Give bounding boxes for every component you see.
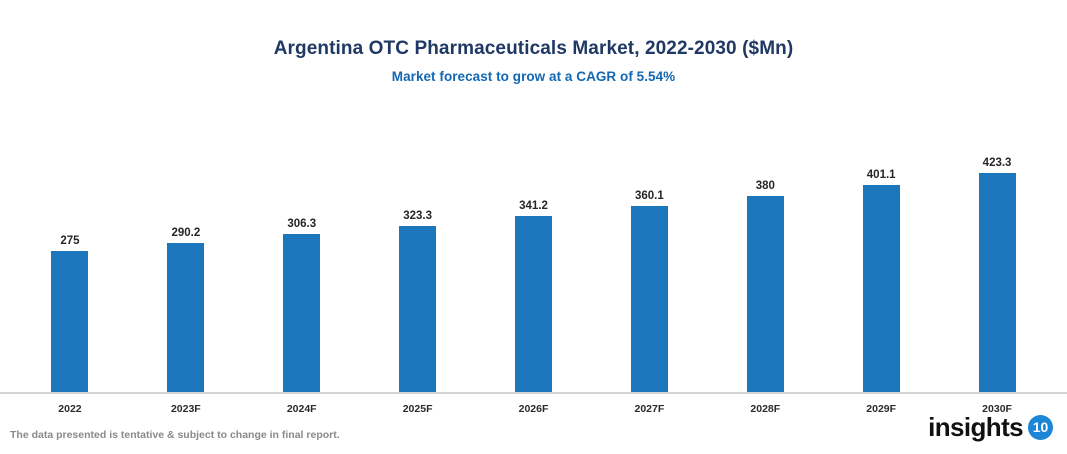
bar-value-label: 423.3	[983, 157, 1012, 169]
bar-value-label: 341.2	[519, 200, 548, 212]
bar-value-label: 290.2	[171, 227, 200, 239]
bar-slot: 380	[707, 102, 823, 394]
bar-value-label: 380	[756, 180, 775, 192]
bar[interactable]	[515, 216, 552, 394]
bar[interactable]	[979, 173, 1016, 393]
chart-container: Argentina OTC Pharmaceuticals Market, 20…	[0, 0, 1067, 454]
bar-slot: 275	[12, 102, 128, 394]
bar-slot: 360.1	[591, 102, 707, 394]
bar-value-label: 275	[60, 235, 79, 247]
bar-slot: 423.3	[939, 102, 1055, 394]
bar-value-label: 401.1	[867, 169, 896, 181]
bar[interactable]	[167, 243, 204, 394]
chart-subtitle: Market forecast to grow at a CAGR of 5.5…	[0, 69, 1067, 84]
bar-slot: 401.1	[823, 102, 939, 394]
bar-value-label: 360.1	[635, 190, 664, 202]
bar-slot: 306.3	[244, 102, 360, 394]
bar-slot: 290.2	[128, 102, 244, 394]
plot-area: 275 290.2 306.3 323.3 341.2 360.1	[12, 102, 1055, 394]
disclaimer-text: The data presented is tentative & subjec…	[10, 429, 340, 441]
bar-value-label: 323.3	[403, 210, 432, 222]
logo-wordmark: insights	[928, 414, 1023, 440]
x-axis-line	[0, 392, 1067, 394]
bar[interactable]	[863, 185, 900, 394]
bar-slot: 341.2	[476, 102, 592, 394]
insights10-logo: insights 10	[928, 414, 1053, 440]
bar[interactable]	[399, 226, 436, 394]
bar-series: 275 290.2 306.3 323.3 341.2 360.1	[12, 102, 1055, 394]
bar[interactable]	[283, 234, 320, 393]
bar-value-label: 306.3	[287, 218, 316, 230]
bar-slot: 323.3	[360, 102, 476, 394]
bar[interactable]	[631, 206, 668, 393]
chart-footer: The data presented is tentative & subjec…	[0, 402, 1067, 454]
bar[interactable]	[51, 251, 88, 394]
logo-badge-icon: 10	[1028, 415, 1053, 440]
chart-title: Argentina OTC Pharmaceuticals Market, 20…	[0, 38, 1067, 61]
bar[interactable]	[747, 196, 784, 394]
chart-header: Argentina OTC Pharmaceuticals Market, 20…	[0, 0, 1067, 84]
